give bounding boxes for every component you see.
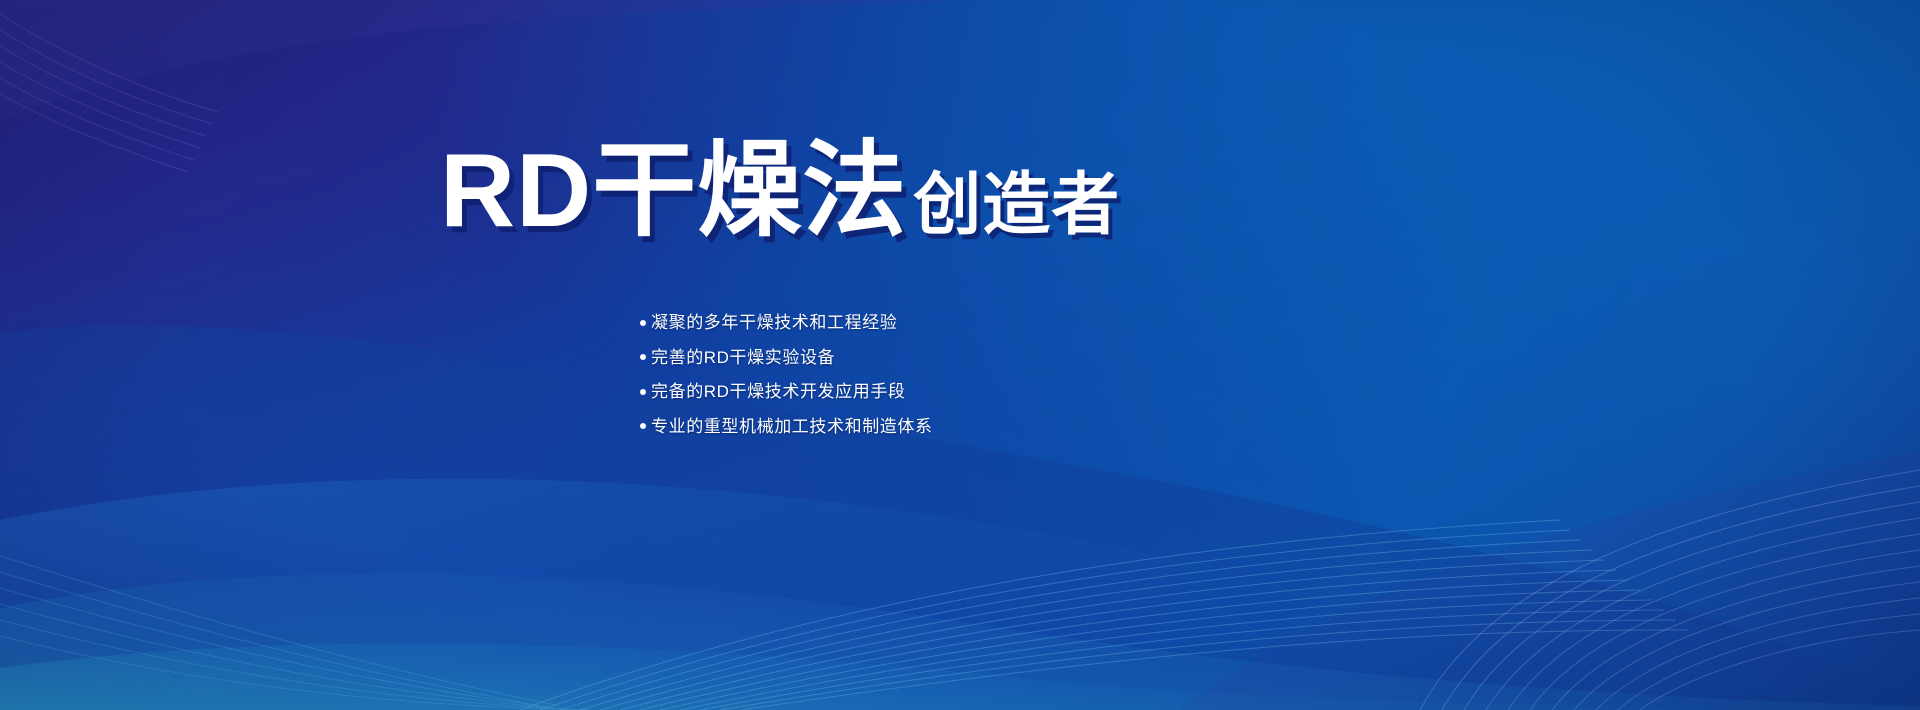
banner-headline: RD干燥法 创造者 [440,138,1120,244]
list-item: 完备的RD干燥技术开发应用手段 [640,379,933,405]
bullet-text: 凝聚的多年干燥技术和工程经验 [651,310,897,336]
bullet-text: 完善的RD干燥实验设备 [651,345,835,371]
headline-sub-text: 创造者 [913,171,1120,244]
banner-content: RD干燥法 创造者 凝聚的多年干燥技术和工程经验 完善的RD干燥实验设备 完备的… [0,0,1920,710]
bullet-text: 专业的重型机械加工技术和制造体系 [651,414,933,440]
promo-banner: RD干燥法 创造者 凝聚的多年干燥技术和工程经验 完善的RD干燥实验设备 完备的… [0,0,1920,710]
list-item: 完善的RD干燥实验设备 [640,345,933,371]
headline-main-text: RD干燥法 [440,138,907,244]
bullet-dot-icon [640,389,646,395]
bullet-dot-icon [640,354,646,360]
bullet-dot-icon [640,423,646,429]
bullet-text: 完备的RD干燥技术开发应用手段 [651,379,906,405]
list-item: 凝聚的多年干燥技术和工程经验 [640,310,933,336]
bullet-dot-icon [640,320,646,326]
feature-bullet-list: 凝聚的多年干燥技术和工程经验 完善的RD干燥实验设备 完备的RD干燥技术开发应用… [640,310,933,439]
list-item: 专业的重型机械加工技术和制造体系 [640,414,933,440]
